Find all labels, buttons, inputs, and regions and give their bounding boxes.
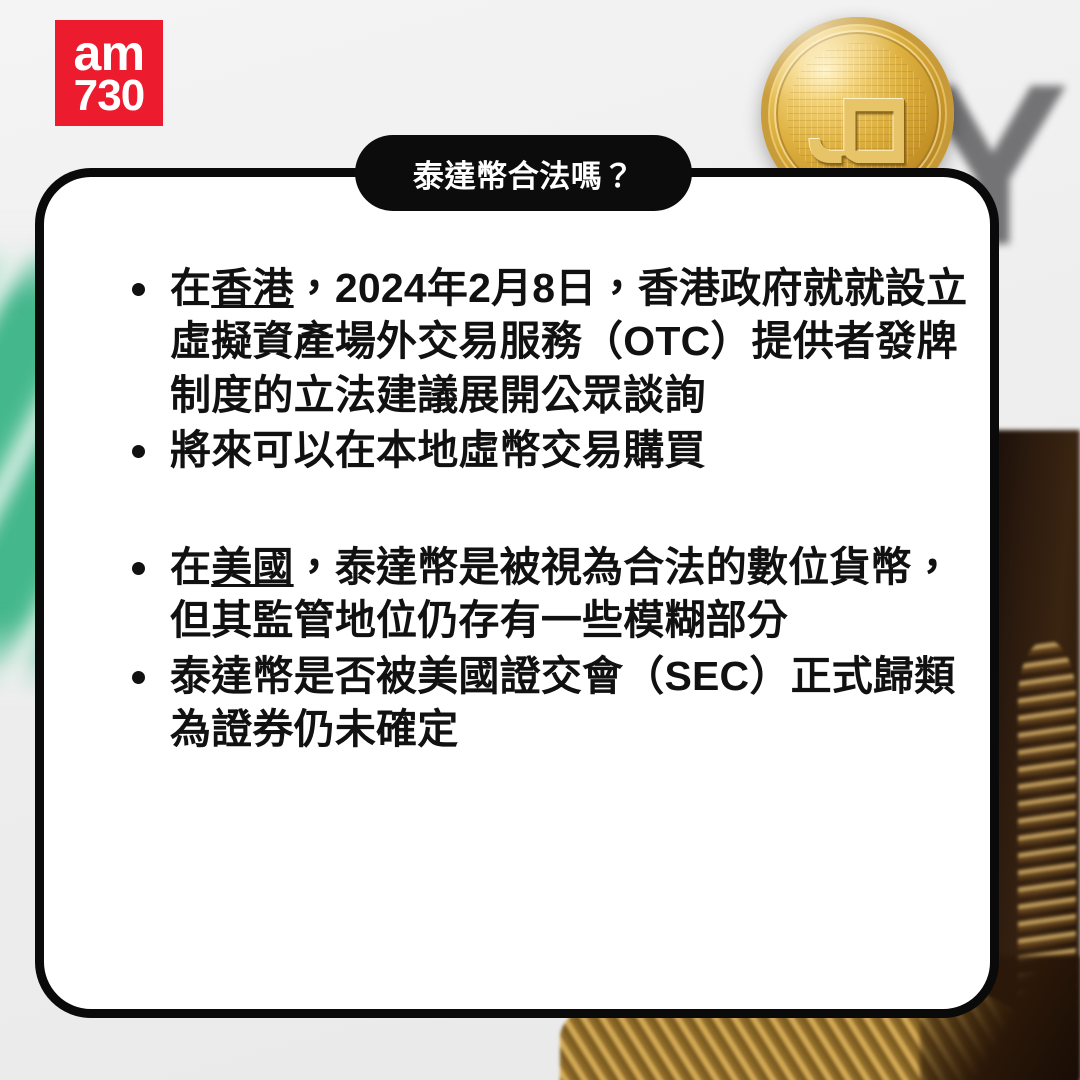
bullet-prefix-0: 在 (170, 265, 211, 311)
am730-logo[interactable]: am 730 (55, 20, 163, 126)
bullet-underline-0: 香港 (211, 265, 293, 311)
page-title: 泰達幣合法嗎？ (413, 151, 634, 196)
bullet-group-separator (120, 479, 980, 541)
bullet-underline-2: 美國 (211, 544, 293, 590)
logo-text-730: 730 (74, 76, 145, 116)
list-item: 在美國，泰達幣是被視為合法的數位貨幣，但其監管地位仍存有一些模糊部分 (120, 541, 980, 648)
logo-text-am: am (74, 30, 145, 76)
list-item: 將來可以在本地虛幣交易購買 (120, 424, 980, 477)
bullet-content: 在香港，2024年2月8日，香港政府就就設立虛擬資產場外交易服務（OTC）提供者… (120, 262, 980, 758)
bullet-group-usa: 在美國，泰達幣是被視為合法的數位貨幣，但其監管地位仍存有一些模糊部分 泰達幣是否… (120, 541, 980, 756)
bullet-rest-1: 將來可以在本地虛幣交易購買 (170, 427, 706, 473)
bullet-prefix-2: 在 (170, 544, 211, 590)
bullet-group-hong-kong: 在香港，2024年2月8日，香港政府就就設立虛擬資產場外交易服務（OTC）提供者… (120, 262, 980, 477)
list-item: 泰達幣是否被美國證交會（SEC）正式歸類為證券仍未確定 (120, 650, 980, 757)
bullet-rest-3: 泰達幣是否被美國證交會（SEC）正式歸類為證券仍未確定 (170, 653, 955, 752)
infographic-canvas: Y am 730 ܩ 泰達幣合法嗎？ 在香港，2024年2月8日，香港政府就就設… (0, 0, 1080, 1080)
title-pill: 泰達幣合法嗎？ (355, 135, 692, 211)
list-item: 在香港，2024年2月8日，香港政府就就設立虛擬資產場外交易服務（OTC）提供者… (120, 262, 980, 422)
